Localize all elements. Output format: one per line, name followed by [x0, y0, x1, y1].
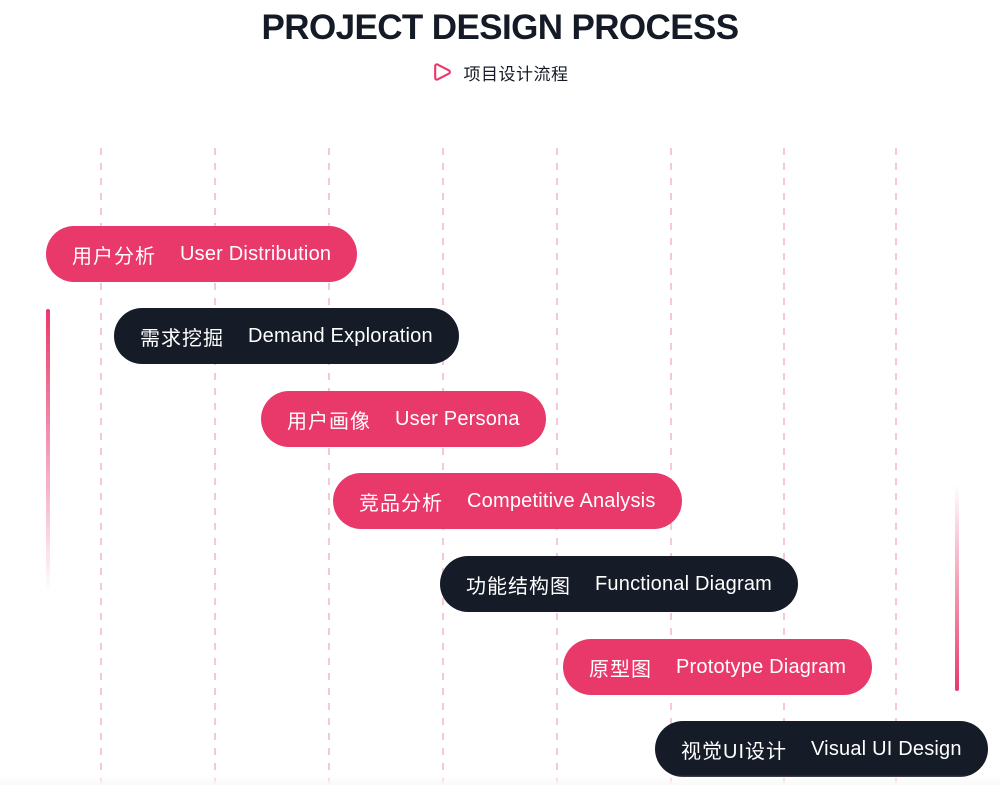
page-title: PROJECT DESIGN PROCESS [0, 0, 1000, 50]
process-step-pill-1[interactable]: 用户分析User Distribution [46, 226, 357, 282]
process-step-label-en: Demand Exploration [248, 325, 433, 348]
process-step-label-cn: 视觉UI设计 [681, 735, 787, 764]
process-step-label-cn: 需求挖掘 [140, 322, 224, 351]
process-step-pill-2[interactable]: 需求挖掘Demand Exploration [114, 308, 459, 364]
process-step-pill-7[interactable]: 视觉UI设计Visual UI Design [655, 721, 988, 777]
process-step-label-cn: 用户分析 [72, 240, 156, 269]
process-step-pill-6[interactable]: 原型图Prototype Diagram [563, 639, 872, 695]
process-step-label-en: Functional Diagram [595, 573, 772, 596]
process-step-label-en: User Persona [395, 408, 520, 431]
process-step-label-en: User Distribution [180, 243, 331, 266]
page-subtitle: 项目设计流程 [464, 60, 569, 85]
process-step-label-en: Competitive Analysis [467, 490, 656, 513]
process-step-label-cn: 原型图 [589, 653, 652, 682]
play-triangle-outline-icon [432, 61, 454, 83]
process-step-label-cn: 功能结构图 [466, 570, 571, 599]
process-step-label-cn: 用户画像 [287, 405, 371, 434]
process-step-label-en: Prototype Diagram [676, 656, 846, 679]
process-steps: 用户分析User Distribution需求挖掘Demand Explorat… [0, 0, 1000, 785]
process-step-label-en: Visual UI Design [811, 738, 962, 761]
process-step-pill-5[interactable]: 功能结构图Functional Diagram [440, 556, 798, 612]
process-step-pill-3[interactable]: 用户画像User Persona [261, 391, 546, 447]
subtitle-row: 项目设计流程 [0, 60, 1000, 85]
page-header: PROJECT DESIGN PROCESS 项目设计流程 [0, 0, 1000, 85]
process-step-pill-4[interactable]: 竞品分析Competitive Analysis [333, 473, 682, 529]
process-step-label-cn: 竞品分析 [359, 487, 443, 516]
